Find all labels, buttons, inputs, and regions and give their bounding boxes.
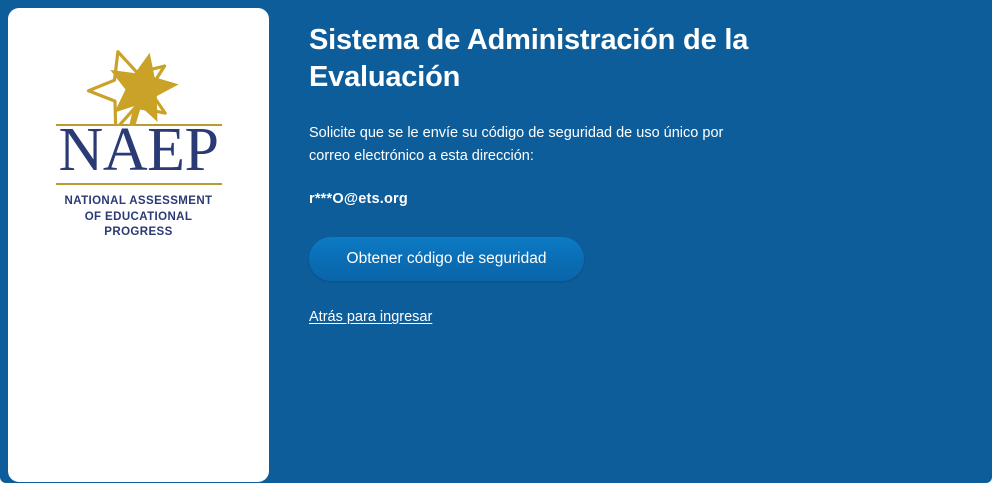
naep-wordmark: NAEP bbox=[59, 122, 219, 179]
naep-logo: NAEP NATIONAL ASSESSMENT OF EDUCATIONAL … bbox=[8, 48, 269, 241]
naep-tagline-line-1: NATIONAL ASSESSMENT bbox=[65, 194, 213, 210]
naep-tagline-line-3: PROGRESS bbox=[65, 225, 213, 241]
brand-card: NAEP NATIONAL ASSESSMENT OF EDUCATIONAL … bbox=[8, 8, 269, 482]
login-page: NAEP NATIONAL ASSESSMENT OF EDUCATIONAL … bbox=[0, 0, 992, 489]
masked-email-value: r***O@ets.org bbox=[309, 167, 929, 207]
main-content: Sistema de Administración de la Evaluaci… bbox=[309, 0, 929, 326]
naep-star-logo-icon bbox=[51, 48, 226, 126]
get-security-code-button[interactable]: Obtener código de seguridad bbox=[309, 237, 584, 281]
back-to-login-link[interactable]: Atrás para ingresar bbox=[309, 309, 432, 325]
page-title: Sistema de Administración de la Evaluaci… bbox=[309, 0, 829, 96]
instructions-text: Solicite que se le envíe su código de se… bbox=[309, 96, 749, 167]
naep-tagline: NATIONAL ASSESSMENT OF EDUCATIONAL PROGR… bbox=[65, 194, 213, 241]
naep-tagline-line-2: OF EDUCATIONAL bbox=[65, 210, 213, 226]
